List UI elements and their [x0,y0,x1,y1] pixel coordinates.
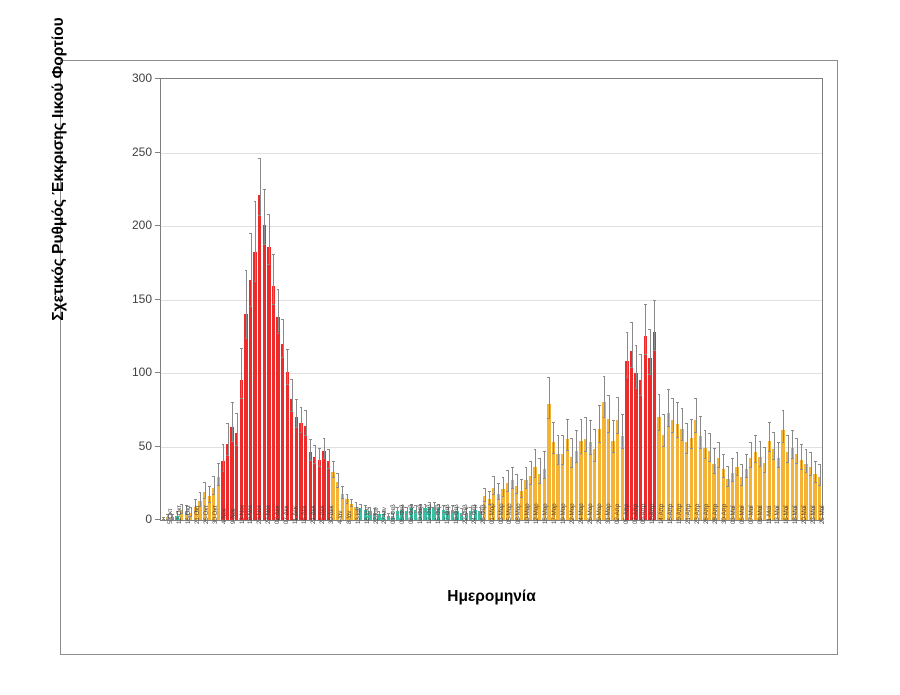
error-bar-cap-lower [552,453,555,454]
error-bar-cap-upper [249,233,252,234]
error-bar-cap-upper [658,394,661,395]
error-bar-cap-lower [570,467,573,468]
y-axis-tick-label: 300 [112,72,152,84]
error-bar-cap-upper [547,377,550,378]
error-bar [228,423,229,455]
x-axis-tick-label: 10-Φεβ [417,504,424,524]
error-bar-cap-upper [327,449,330,450]
x-axis-title: Ημερομηνία [160,588,823,606]
error-bar [590,420,591,454]
error-bar-cap-lower [547,418,550,419]
error-bar-cap-lower [648,374,651,375]
x-axis-tick-label: 15-Μαρ [542,503,549,524]
error-bar [517,474,518,492]
error-bar-cap-upper [809,452,812,453]
error-bar-cap-lower [671,432,674,433]
bar [630,351,633,520]
error-bar-cap-upper [740,464,743,465]
bar [644,336,647,520]
error-bar-cap-upper [346,494,349,495]
error-bar [618,397,619,433]
error-bar [581,419,582,453]
error-bar-cap-lower [281,357,284,358]
error-bar [531,461,532,484]
error-bar [769,422,770,452]
error-bar [296,399,297,426]
x-axis-tick-label: 05-Φεβ [399,504,406,524]
error-bar-cap-lower [800,469,803,470]
error-bar [732,458,733,481]
y-axis-tick-mark [155,78,160,79]
x-axis-tick-label: 07-Απρ [632,504,639,524]
error-bar-cap-upper [782,410,785,411]
error-bar [815,461,816,482]
error-bar [246,270,247,338]
error-bar-cap-lower [506,491,509,492]
error-bar [755,435,756,462]
error-bar-cap-lower [704,458,707,459]
error-bar [273,254,274,304]
x-axis-tick-label: 11-Δεκ [292,506,299,524]
error-bar [338,473,339,487]
x-axis-tick-label: 20-Μαϊ [801,506,808,524]
x-axis-tick-label: 13-Ιαν [355,507,362,524]
error-bar [503,477,504,495]
y-axis-tick-mark [155,299,160,300]
x-axis-tick-label: 09-Μαϊ [757,506,764,524]
error-bar-cap-lower [607,432,610,433]
error-bar-cap-lower [258,215,261,216]
y-axis-title: Σχετικός Ρυθμός Έκκρισης Ιικού Φορτίου [50,4,68,334]
error-bar-cap-lower [662,446,665,447]
error-bar [397,507,398,514]
error-bar-cap-upper [731,458,734,459]
error-bar-cap-lower [515,493,518,494]
error-bar-cap-lower [759,466,762,467]
error-bar-cap-lower [561,464,564,465]
error-bar [645,304,646,354]
error-bar-cap-upper [212,476,215,477]
error-bar-cap-lower [584,451,587,452]
error-bar-cap-lower [290,411,293,412]
error-bar-cap-lower [336,487,339,488]
error-bar-cap-upper [281,319,284,320]
x-axis-tick-label: 17-Μαρ [551,503,558,524]
error-bar-cap-upper [630,322,633,323]
error-bar-cap-lower [731,481,734,482]
x-axis-tick-label: 22-Μαρ [569,503,576,524]
error-bar-cap-upper [690,419,693,420]
error-bar-cap-upper [515,474,518,475]
error-bar-cap-lower [708,461,711,462]
x-axis-tick-label: 19-Φεβ [453,504,460,524]
error-bar-cap-lower [483,501,486,502]
error-bar-cap-lower [212,494,215,495]
error-bar [494,476,495,494]
error-bar [540,458,541,483]
error-bar-cap-upper [644,304,647,305]
error-bar-cap-upper [593,429,596,430]
error-bar [301,407,302,432]
error-bar-cap-upper [566,419,569,420]
error-bar [673,398,674,432]
error-bar [315,445,316,463]
error-bar [205,482,206,498]
x-axis-tick-label: 05-Μαρ [506,503,513,524]
error-bar-cap-lower [226,455,229,456]
bar [653,332,656,520]
error-bar-cap-upper [525,467,528,468]
error-bar [535,449,536,476]
error-bar [632,322,633,368]
x-axis-tick-label: 23-Μαϊ [810,506,817,524]
error-bar [654,300,655,350]
error-bar [778,442,779,467]
x-axis-tick-label: 05-Απρ [623,504,630,524]
error-bar-cap-upper [745,454,748,455]
error-bar-cap-upper [162,517,165,518]
error-bar-cap-upper [557,435,560,436]
error-bar-cap-lower [162,519,165,520]
error-bar [287,349,288,383]
error-bar [595,429,596,461]
error-bar-cap-lower [295,427,298,428]
error-bar [650,329,651,375]
error-bar [636,345,637,388]
error-bar-cap-upper [671,398,674,399]
error-bar [677,402,678,436]
error-bar [668,389,669,425]
error-bar [737,452,738,475]
error-bar-cap-lower [277,333,280,334]
x-axis-tick-label: 02-Απρ [614,504,621,524]
error-bar [696,398,697,432]
x-axis-tick-label: 18-Ιαν [364,507,371,524]
y-axis-tick-label: 100 [112,366,152,378]
y-axis-tick-mark [155,152,160,153]
error-bar [237,413,238,445]
error-bar-cap-lower [809,475,812,476]
error-bar [742,464,743,485]
error-bar-cap-lower [304,435,307,436]
y-axis-tick-mark [155,446,160,447]
x-axis-tick-label: 08-Φεβ [408,504,415,524]
error-bar-cap-upper [717,442,720,443]
error-bar [351,499,352,506]
error-bar-cap-lower [763,472,766,473]
error-bar-cap-upper [199,492,202,493]
error-bar-cap-lower [612,452,615,453]
error-bar-cap-lower [676,437,679,438]
y-axis-tick-label: 250 [112,146,152,158]
error-bar [806,449,807,472]
error-bar [774,432,775,459]
error-bar-cap-upper [667,389,670,390]
error-bar [746,454,747,477]
error-bar-cap-upper [639,354,642,355]
x-axis-tick-label: 24-Μαρ [578,503,585,524]
error-bar-cap-upper [309,439,312,440]
x-axis-tick-label: 07-Δεκ [283,506,290,524]
x-axis-tick-label: 16-Απρ [667,504,674,524]
error-bar-cap-upper [277,289,280,290]
x-axis-tick-label: 16-Μαϊ [783,506,790,524]
error-bar-cap-lower [717,467,720,468]
error-bar [260,158,261,215]
error-bar-cap-upper [304,410,307,411]
error-bar [811,452,812,475]
error-bar-cap-lower [538,483,541,484]
error-bar-cap-lower [249,306,252,307]
error-bar-cap-lower [598,442,601,443]
error-bar-cap-upper [235,413,238,414]
x-axis-tick-label: 03-Μαϊ [730,506,737,524]
error-bar [599,405,600,441]
y-axis-tick-mark [155,225,160,226]
error-bar-cap-upper [621,414,624,415]
x-axis-tick-label: 23-Απρ [694,504,701,524]
error-bar [567,419,568,451]
x-axis-tick-label: 5-Οκτ [167,509,174,524]
error-bar-cap-lower [525,488,528,489]
error-bar-cap-lower [217,485,220,486]
bar [295,417,298,520]
error-bar-cap-upper [791,430,794,431]
error-bar-cap-lower [653,350,656,351]
error-bar-cap-lower [621,448,624,449]
error-bar-cap-lower [786,462,789,463]
error-bar-cap-upper [561,435,564,436]
error-bar-cap-upper [290,379,293,380]
error-bar-cap-upper [580,419,583,420]
error-bar-cap-lower [667,426,670,427]
error-bar-cap-upper [492,476,495,477]
error-bar-cap-upper [217,463,220,464]
error-bar [241,348,242,398]
error-bar-cap-lower [639,395,642,396]
error-bar-cap-lower [267,264,270,265]
error-bar-cap-upper [749,442,752,443]
error-bar [627,332,628,378]
bar [281,344,284,520]
error-bar-cap-upper [497,483,500,484]
error-bar-cap-lower [529,484,532,485]
error-bar [719,442,720,467]
error-bar [613,420,614,452]
error-bar-cap-upper [805,449,808,450]
error-bar-cap-upper [529,461,532,462]
x-axis-tick-label: 11-Μαϊ [766,506,773,524]
bar [286,372,289,520]
x-axis-tick-label: 16-Δεκ [301,506,308,524]
x-axis-tick-label: 17-Φεβ [444,504,451,524]
error-bar [232,402,233,441]
error-bar-cap-lower [235,445,238,446]
error-bar [604,376,605,417]
x-axis-tick-label: 14-Απρ [658,504,665,524]
bar [258,195,261,520]
error-bar [691,419,692,449]
error-bar-cap-upper [538,458,541,459]
error-bar [723,454,724,477]
error-bar-cap-upper [772,432,775,433]
error-bar-cap-lower [690,448,693,449]
error-bar-cap-upper [231,402,234,403]
error-bar-cap-upper [800,444,803,445]
bar [235,433,238,520]
error-bar-cap-lower [497,499,500,500]
x-axis-tick-label: 26-Απρ [703,504,710,524]
error-bar-cap-lower [300,432,303,433]
error-bar [783,410,784,442]
error-bar-cap-lower [245,338,248,339]
error-bar [609,395,610,431]
error-bar [512,467,513,488]
bar [253,252,256,520]
error-bar-cap-lower [341,498,344,499]
error-bar-cap-lower [626,377,629,378]
error-bar-cap-lower [754,462,757,463]
error-bar-cap-lower [502,496,505,497]
error-bar [797,438,798,463]
error-bar-cap-upper [575,430,578,431]
error-bar-cap-lower [511,488,514,489]
error-bar-cap-upper [208,486,211,487]
error-bar-cap-lower [777,467,780,468]
error-bar [255,201,256,281]
error-bar-cap-lower [593,461,596,462]
error-bar-cap-upper [612,420,615,421]
error-bar-cap-upper [681,408,684,409]
error-bar-cap-lower [254,281,257,282]
error-bar-cap-lower [749,467,752,468]
x-axis-tick-label: 4-Νοε [221,508,228,524]
error-bar-cap-upper [258,158,261,159]
x-axis-tick-label: 28-Απρ [712,504,719,524]
error-bar-cap-upper [777,442,780,443]
error-bar-cap-upper [240,348,243,349]
bar [240,380,243,520]
error-bar-cap-upper [226,423,229,424]
error-bar-cap-upper [245,270,248,271]
error-bar-cap-lower [589,454,592,455]
bar [272,286,275,520]
bar [276,317,279,520]
bar [634,373,637,520]
x-axis-tick-label: 12-Φεβ [426,504,433,524]
error-bar [526,467,527,488]
error-bar-cap-lower [318,466,321,467]
error-bar-cap-upper [685,423,688,424]
error-bar-cap-upper [759,441,762,442]
error-bar-cap-upper [359,504,362,505]
error-bar-cap-upper [814,461,817,462]
error-bar-cap-upper [263,189,266,190]
error-bar-cap-lower [332,477,335,478]
x-axis-tick-label: 01-Φεβ [390,504,397,524]
error-bar-cap-lower [534,477,537,478]
error-bar-cap-upper [648,329,651,330]
error-bar [319,448,320,466]
x-axis-tick-label: 24-Φεβ [471,504,478,524]
error-bar-cap-lower [630,367,633,368]
x-axis-tick-label: 10-Μαρ [524,503,531,524]
error-bar-cap-upper [584,417,587,418]
error-bar-cap-lower [520,497,523,498]
x-axis-tick-label: 12-Απρ [649,504,656,524]
error-bar-cap-lower [805,472,808,473]
error-bar-cap-upper [313,445,316,446]
x-axis-tick-label: 27-Νοε [265,505,272,524]
x-axis-tick-label: 4-Ιαν [337,511,344,524]
x-axis-tick-label: 21-Οκτ [194,505,201,524]
x-axis-tick-label: 13-Μαϊ [774,506,781,524]
error-bar-cap-upper [355,502,358,503]
error-bar-cap-upper [570,438,573,439]
error-bar-cap-lower [782,442,785,443]
error-bar [278,289,279,332]
error-bar-cap-upper [786,435,789,436]
x-axis-tick-label: 12-Μαρ [533,503,540,524]
error-bar [251,233,252,306]
error-bar-cap-upper [203,482,206,483]
x-axis-tick-label: 22-Ιαν [373,507,380,524]
error-bar-cap-upper [323,438,326,439]
error-bar [306,410,307,435]
error-bar-cap-upper [616,397,619,398]
error-bar-cap-lower [309,460,312,461]
error-bar [329,449,330,467]
error-bar-cap-lower [722,477,725,478]
y-axis-tick-label: 200 [112,219,152,231]
x-axis-tick-label: 26-Μαρ [587,503,594,524]
x-axis-tick-label: 08-Μαρ [515,503,522,524]
error-bar-cap-upper [763,447,766,448]
x-axis-tick-label: 21-Απρ [685,504,692,524]
error-bar-cap-upper [603,376,606,377]
error-bar [641,354,642,395]
error-bar [572,438,573,468]
error-bar [705,430,706,457]
error-bar-cap-upper [653,300,656,301]
x-axis-tick-label: 23-Νοε [256,505,263,524]
y-axis-tick-label: 150 [112,293,152,305]
error-bar-cap-lower [685,453,688,454]
plot-area [160,78,823,521]
error-bar-cap-lower [272,304,275,305]
error-bar-cap-upper [272,254,275,255]
x-axis-tick-label: 30-Απρ [721,504,728,524]
error-bar [310,439,311,460]
bar [267,247,270,520]
error-bar [558,435,559,465]
error-bar-cap-upper [635,345,638,346]
error-bar-cap-lower [603,417,606,418]
error-bar-cap-upper [726,466,729,467]
error-bar-cap-upper [254,201,257,202]
error-bar-cap-upper [713,448,716,449]
error-bar-cap-upper [286,349,289,350]
x-axis-tick-label: 18-Νοε [247,505,254,524]
error-bar [714,448,715,473]
error-bar-cap-lower [699,448,702,449]
error-bar-cap-upper [350,499,353,500]
error-bar-cap-upper [295,399,298,400]
error-bar-cap-upper [332,461,335,462]
bar [244,314,247,520]
error-bar-cap-lower [327,468,330,469]
error-bar-cap-upper [768,422,771,423]
